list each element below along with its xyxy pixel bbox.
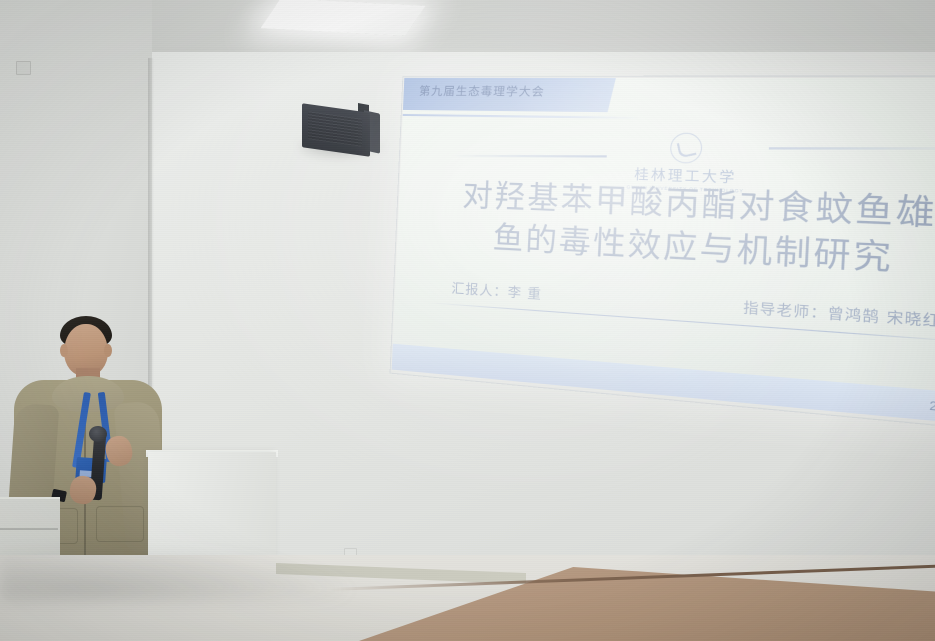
slide-title: 对羟基苯甲酸丙酯对食蚊鱼雄 鱼的毒性效应与机制研究 [424,175,935,287]
presentation-slide: 第九届生态毒理学大会 桂林理工大学 GUILIN UNIVERSITY OF T… [392,78,935,428]
presenter-pocket-right [96,506,144,542]
advisor-label: 指导老师：曾鸿鹄 宋晓红 [743,296,935,331]
presenter-ear-right [104,344,112,357]
conference-presentation-photo: 第九届生态毒理学大会 桂林理工大学 GUILIN UNIVERSITY OF T… [0,0,935,641]
wall-fixture-icon [16,61,31,75]
logo-rule-right [769,147,935,149]
university-emblem-icon [670,132,703,163]
projection-screen: 第九届生态毒理学大会 桂林理工大学 GUILIN UNIVERSITY OF T… [392,78,935,428]
conference-name-text: 第九届生态毒理学大会 [419,83,615,101]
banner-divider [395,114,642,119]
slide-byline: 汇报人：李 重 指导老师：曾鸿鹄 宋晓红 [434,276,935,333]
presenter-label: 汇报人：李 重 [451,277,542,303]
presenter-ear-left [60,344,68,357]
wall-speaker-icon [302,104,382,156]
logo-rule-left [451,155,606,157]
floor-shadow [0,545,360,601]
cabinet-seam [0,528,58,530]
slide-date: 2024年4 [929,396,935,421]
